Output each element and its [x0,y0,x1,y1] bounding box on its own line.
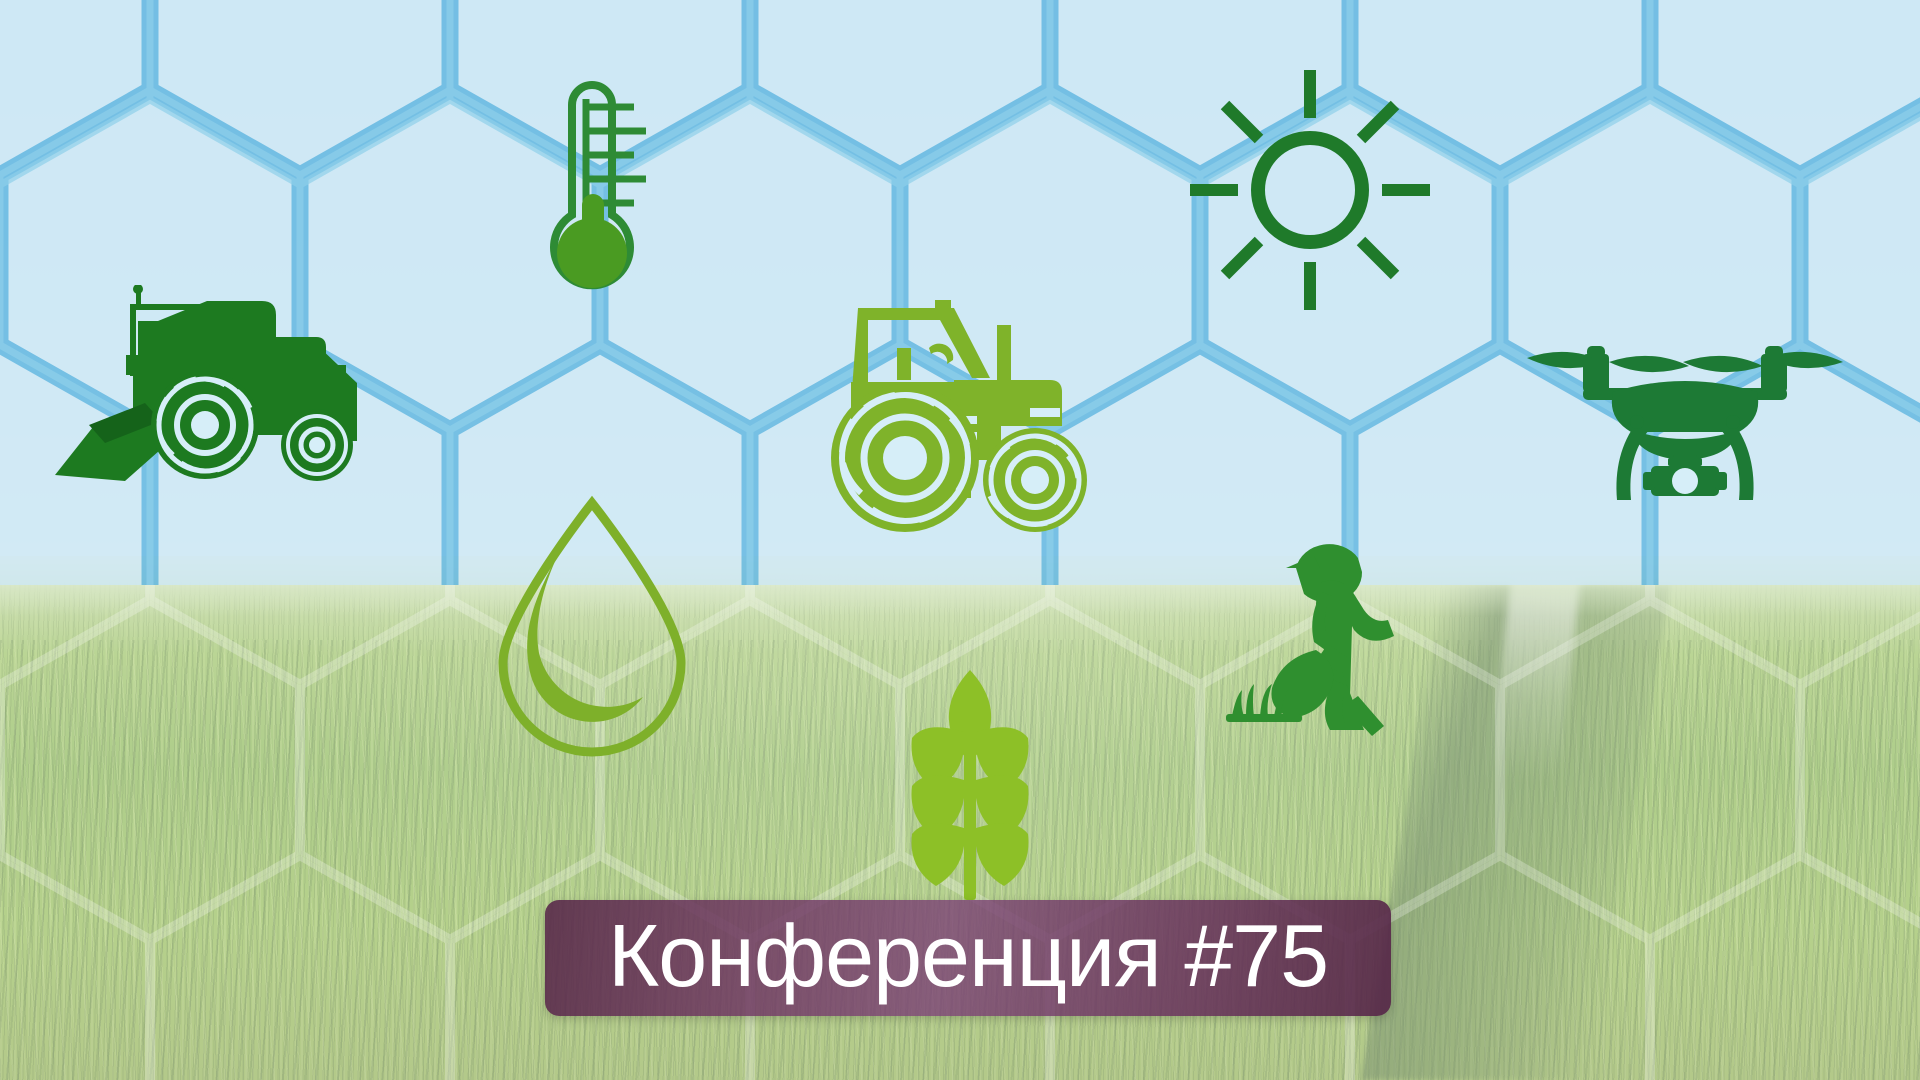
conference-title-text: Конференция #75 [608,912,1328,1000]
sun-icon [1180,60,1440,320]
drone-icon [1525,330,1845,510]
combine-harvester-icon [55,285,360,485]
tractor-icon [825,290,1095,540]
thermometer-icon [520,65,680,320]
wheat-ear-icon [880,660,1060,900]
conference-title-banner: Конференция #75 [545,900,1391,1016]
water-drop-icon [485,495,700,760]
farmer-shovel-icon [1210,520,1430,740]
poster-canvas: Конференция #75 [0,0,1920,1080]
